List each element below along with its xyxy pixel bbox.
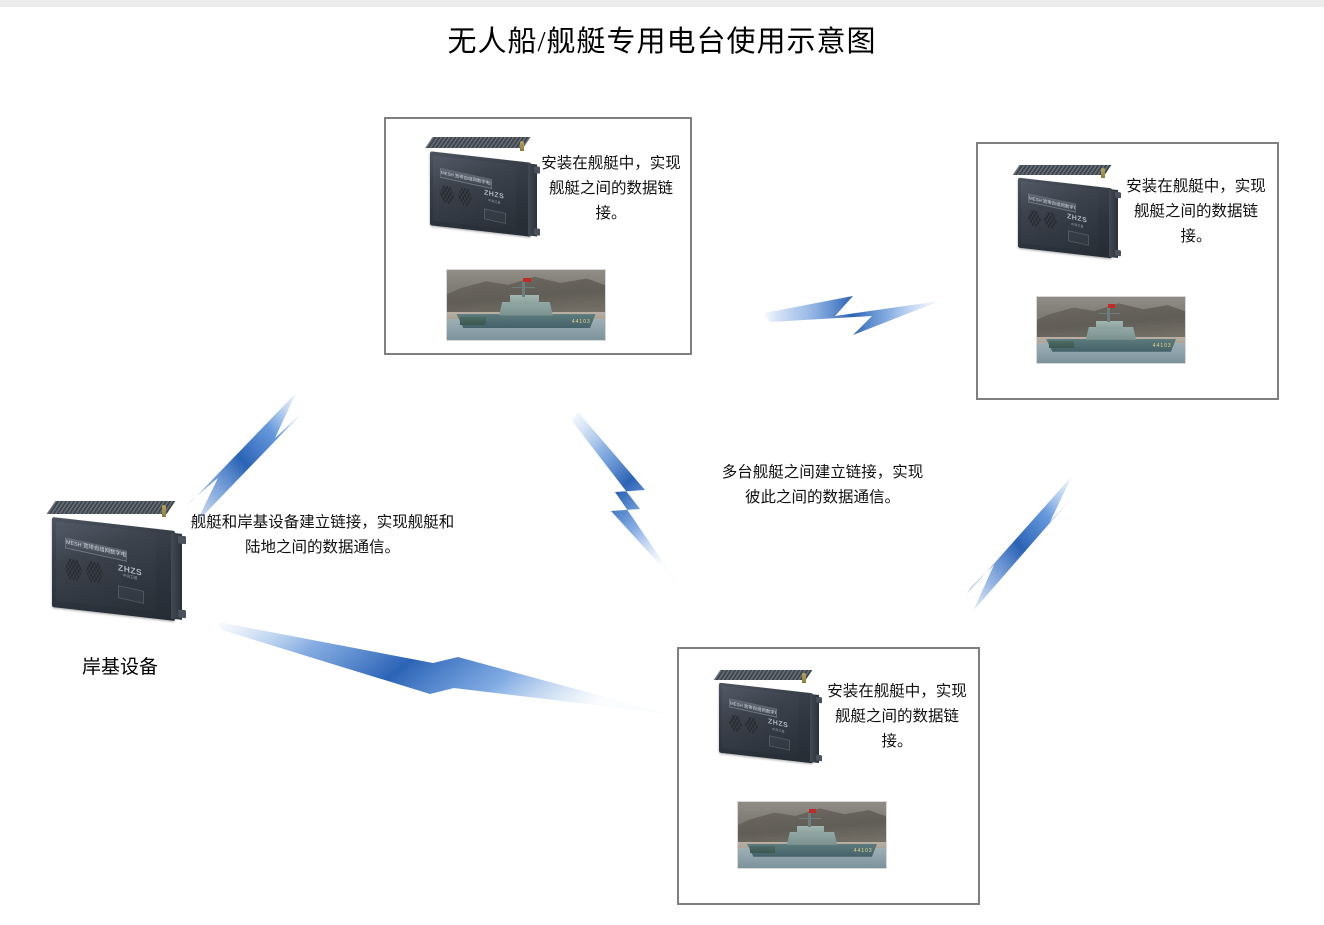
vessel-node-top-left[interactable]: MESH 宽带自组网数字电台 ZHZS 中海卫星 安装在舰艇中，实现舰艇之间的数… xyxy=(384,117,692,355)
radio-body: MESH 宽带自组网数字电台 ZHZS 中海卫星 xyxy=(52,517,175,621)
ship-hull-number: 44103 xyxy=(572,319,591,325)
radio-front-panel xyxy=(769,736,790,751)
radio-face: MESH 宽带自组网数字电台 ZHZS 中海卫星 xyxy=(721,686,798,756)
radio-mount-ear-bottom xyxy=(179,610,186,619)
ship-yardarm xyxy=(512,287,536,288)
radio-right-edge xyxy=(810,694,818,762)
vessel-node-top-right[interactable]: MESH 宽带自组网数字电台 ZHZS 中海卫星 安装在舰艇中，实现舰艇之间的数… xyxy=(976,142,1279,400)
ship-mast xyxy=(522,281,525,296)
radio-vent-left xyxy=(728,714,741,733)
radio-front-panel xyxy=(1068,231,1089,246)
diagram-canvas: 无人船/舰艇专用电台使用示意图 xyxy=(0,0,1324,925)
radio-device: MESH 宽带自组网数字电台 ZHZS 中海卫星 xyxy=(713,677,825,769)
ship-photo: 44103 xyxy=(737,801,887,869)
radio-brand-logo: ZHZS 中海卫星 xyxy=(767,718,787,734)
link-shore-to-bottom xyxy=(218,622,668,714)
radio-vent-right xyxy=(745,716,758,735)
radio-face-label: MESH 宽带自组网数字电台 xyxy=(440,168,492,189)
radio-heatsink-fins xyxy=(46,501,174,514)
radio-right-edge xyxy=(528,164,537,237)
link-shore-to-top-left xyxy=(185,393,303,523)
ship-mast xyxy=(1107,308,1109,323)
radio-right-edge xyxy=(1109,189,1117,257)
radio-mount-ear-bottom xyxy=(534,228,540,235)
page-title: 无人船/舰艇专用电台使用示意图 xyxy=(0,22,1324,62)
ship-stern-structure xyxy=(750,846,775,853)
ship-flag-icon xyxy=(809,809,816,813)
radio-right-edge xyxy=(171,533,182,620)
ship-flag-icon xyxy=(523,278,531,282)
radio-antenna-connector xyxy=(162,505,167,517)
ship-superstructure xyxy=(787,832,837,845)
link-top-right-to-bottom xyxy=(967,476,1076,611)
radio-face: MESH 宽带自组网数字电台 ZHZS 中海卫星 xyxy=(433,155,516,230)
top-band xyxy=(0,0,1324,7)
shore-station-label: 岸基设备 xyxy=(40,655,200,681)
vessel-node-bottom[interactable]: MESH 宽带自组网数字电台 ZHZS 中海卫星 安装在舰艇中，实现舰艇之间的数… xyxy=(677,647,980,905)
radio-mount-ear-top xyxy=(534,166,540,173)
vessel-node-caption: 安装在舰艇中，实现舰艇之间的数据链接。 xyxy=(1126,174,1266,249)
radio-vent-right xyxy=(86,560,103,584)
radio-vent-left xyxy=(1027,209,1040,228)
radio-brand-logo: ZHZS 中海卫星 xyxy=(484,189,504,205)
radio-antenna-connector xyxy=(802,673,806,682)
link-top-left-to-bottom xyxy=(572,412,681,588)
radio-vent-right xyxy=(458,187,472,207)
radio-mount-ear-bottom xyxy=(1114,250,1120,257)
radio-front-panel xyxy=(118,586,144,605)
ship-hull-number: 44103 xyxy=(854,848,873,854)
ship-stern-structure xyxy=(460,317,487,325)
radio-device: MESH 宽带自组网数字电台 ZHZS 中海卫星 xyxy=(1012,172,1124,264)
radio-vent-left xyxy=(440,185,454,205)
radio-body: MESH 宽带自组网数字电台 ZHZS 中海卫星 xyxy=(1018,178,1112,259)
radio-mount-ear-top xyxy=(179,535,186,544)
ship-yardarm xyxy=(1098,313,1120,314)
vessel-node-caption: 安装在舰艇中，实现舰艇之间的数据链接。 xyxy=(541,151,681,226)
ship-stern-structure xyxy=(1049,341,1074,348)
shore-radio-device[interactable]: MESH 宽带自组网数字电台 ZHZS 中海卫星 xyxy=(45,510,191,628)
radio-heatsink-fins xyxy=(1013,165,1112,175)
radio-mount-ear-top xyxy=(815,696,821,703)
radio-face-label: MESH 宽带自组网数字电台 xyxy=(1027,193,1075,213)
radio-mount-ear-bottom xyxy=(815,755,821,762)
link-top-left-to-top-right xyxy=(764,296,940,335)
radio-heatsink-fins xyxy=(714,670,813,680)
radio-antenna-connector xyxy=(520,141,524,151)
radio-antenna-connector xyxy=(1101,168,1105,177)
radio-device: MESH 宽带自组网数字电台 ZHZS 中海卫星 xyxy=(424,145,544,243)
ship-mast xyxy=(808,813,810,828)
ship-photo: 44103 xyxy=(1036,296,1186,364)
radio-front-panel xyxy=(484,208,506,224)
annotation-vessel-to-vessel: 多台舰艇之间建立链接，实现彼此之间的数据通信。 xyxy=(715,460,930,510)
radio-brand-logo: ZHZS 中海卫星 xyxy=(1066,213,1086,229)
radio-vent-right xyxy=(1044,211,1057,230)
vessel-node-caption: 安装在舰艇中，实现舰艇之间的数据链接。 xyxy=(827,679,967,754)
radio-face-label: MESH 宽带自组网数字电台 xyxy=(65,537,127,562)
radio-face: MESH 宽带自组网数字电台 ZHZS 中海卫星 xyxy=(1020,181,1097,251)
radio-heatsink-fins xyxy=(425,137,531,148)
radio-body: MESH 宽带自组网数字电台 ZHZS 中海卫星 xyxy=(719,683,813,764)
radio-body: MESH 宽带自组网数字电台 ZHZS 中海卫星 xyxy=(430,151,531,237)
ship-flag-icon xyxy=(1108,304,1115,308)
radio-face-label: MESH 宽带自组网数字电台 xyxy=(728,698,776,718)
radio-mount-ear-top xyxy=(1114,191,1120,198)
ship-yardarm xyxy=(799,818,821,819)
ship-hull-number: 44103 xyxy=(1153,343,1172,349)
radio-brand-logo: ZHZS 中海卫星 xyxy=(118,563,142,583)
ship-superstructure xyxy=(1086,327,1136,340)
annotation-shore-to-vessel: 舰艇和岸基设备建立链接，实现舰艇和陆地之间的数据通信。 xyxy=(190,510,455,560)
radio-vent-left xyxy=(65,558,82,582)
ship-photo: 44103 xyxy=(446,269,606,341)
radio-face: MESH 宽带自组网数字电台 ZHZS 中海卫星 xyxy=(56,522,157,612)
